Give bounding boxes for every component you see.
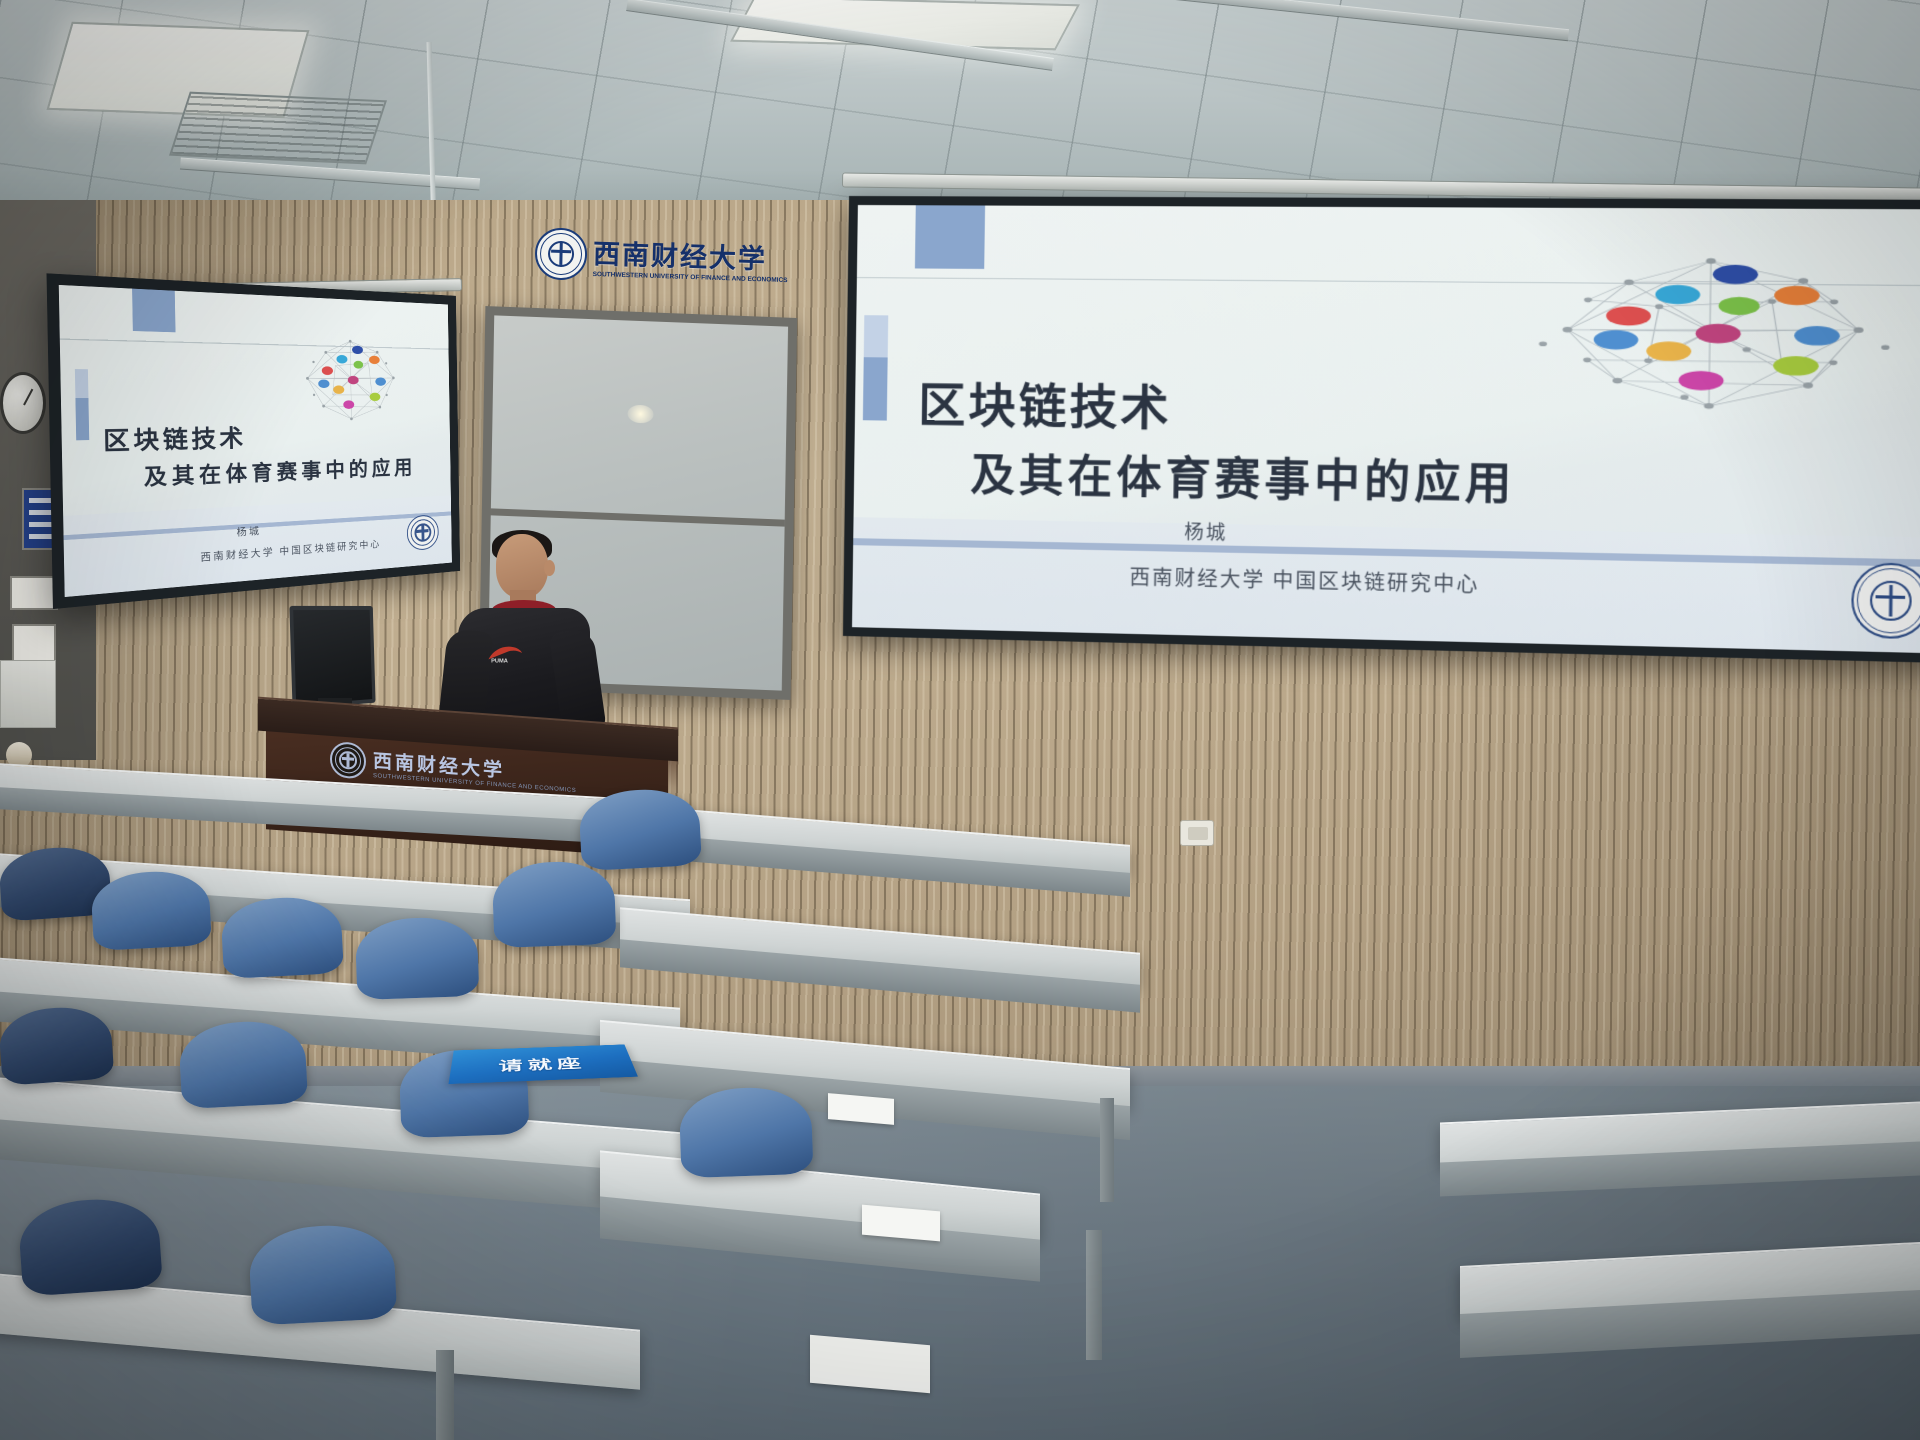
slide-accent-block bbox=[132, 289, 176, 333]
monitor-screen bbox=[289, 606, 375, 709]
slide-left: 区块链技术 及其在体育赛事中的应用 杨城 西南财经大学 中国区块链研究中心 bbox=[59, 285, 452, 597]
slide-accent-block bbox=[75, 397, 90, 440]
slide-title: 区块链技术 bbox=[103, 420, 247, 457]
nameplate-text: 请就座 bbox=[498, 1053, 587, 1075]
svg-text:PUMA: PUMA bbox=[491, 659, 508, 665]
wall-clock-icon bbox=[0, 372, 46, 434]
slide-accent-block bbox=[863, 357, 887, 421]
projection-screen-main: 区块链技术 及其在体育赛事中的应用 杨城 西南财经大学 中国区块链研究中心 bbox=[843, 196, 1920, 664]
air-vent bbox=[169, 92, 387, 165]
wall-panel bbox=[10, 576, 58, 610]
slide-main: 区块链技术 及其在体育赛事中的应用 杨城 西南财经大学 中国区块链研究中心 bbox=[852, 205, 1920, 654]
slide-accent-block bbox=[864, 315, 888, 357]
chair bbox=[679, 1086, 814, 1179]
slide-author: 杨城 bbox=[237, 523, 262, 539]
slide-author: 杨城 bbox=[1184, 517, 1228, 545]
chair bbox=[248, 1222, 398, 1325]
chair bbox=[17, 1195, 163, 1297]
chair bbox=[0, 1004, 114, 1086]
desktop-monitor[interactable] bbox=[289, 606, 375, 709]
chair bbox=[220, 895, 344, 979]
whiteboard-divider bbox=[491, 508, 785, 526]
slide-accent-block bbox=[915, 205, 985, 269]
desk-leg bbox=[1086, 1230, 1102, 1360]
network-graph-icon bbox=[1505, 234, 1918, 431]
chair bbox=[578, 787, 702, 871]
waste-bin bbox=[0, 660, 56, 728]
wall-university-sign: 西南财经大学 SOUTHWESTERN UNIVERSITY OF FINANC… bbox=[534, 214, 781, 300]
slide-subtitle: 及其在体育赛事中的应用 bbox=[144, 453, 417, 493]
network-graph-icon bbox=[288, 324, 411, 431]
presenter-head bbox=[496, 534, 548, 598]
chair bbox=[355, 916, 480, 1000]
slide-title: 区块链技术 bbox=[918, 366, 1172, 439]
swufe-seal-icon bbox=[535, 227, 588, 281]
presenter-ear bbox=[544, 560, 555, 576]
swufe-seal-icon bbox=[330, 741, 366, 780]
slide-accent-block bbox=[74, 370, 88, 398]
chair bbox=[178, 1019, 308, 1109]
power-socket-icon bbox=[1180, 820, 1214, 846]
chair bbox=[492, 860, 617, 948]
wall-sign-chinese-name: 西南财经大学 bbox=[593, 232, 789, 277]
desk-leg bbox=[1100, 1098, 1114, 1202]
chair bbox=[90, 869, 212, 951]
classroom-photo: 西南财经大学 SOUTHWESTERN UNIVERSITY OF FINANC… bbox=[0, 0, 1920, 1440]
projection-screen-left: 区块链技术 及其在体育赛事中的应用 杨城 西南财经大学 中国区块链研究中心 bbox=[47, 273, 461, 609]
whiteboard-glare bbox=[628, 404, 654, 423]
desk-leg bbox=[436, 1350, 454, 1440]
slide-subtitle: 及其在体育赛事中的应用 bbox=[970, 439, 1516, 513]
puma-logo-icon: PUMA bbox=[486, 642, 524, 664]
